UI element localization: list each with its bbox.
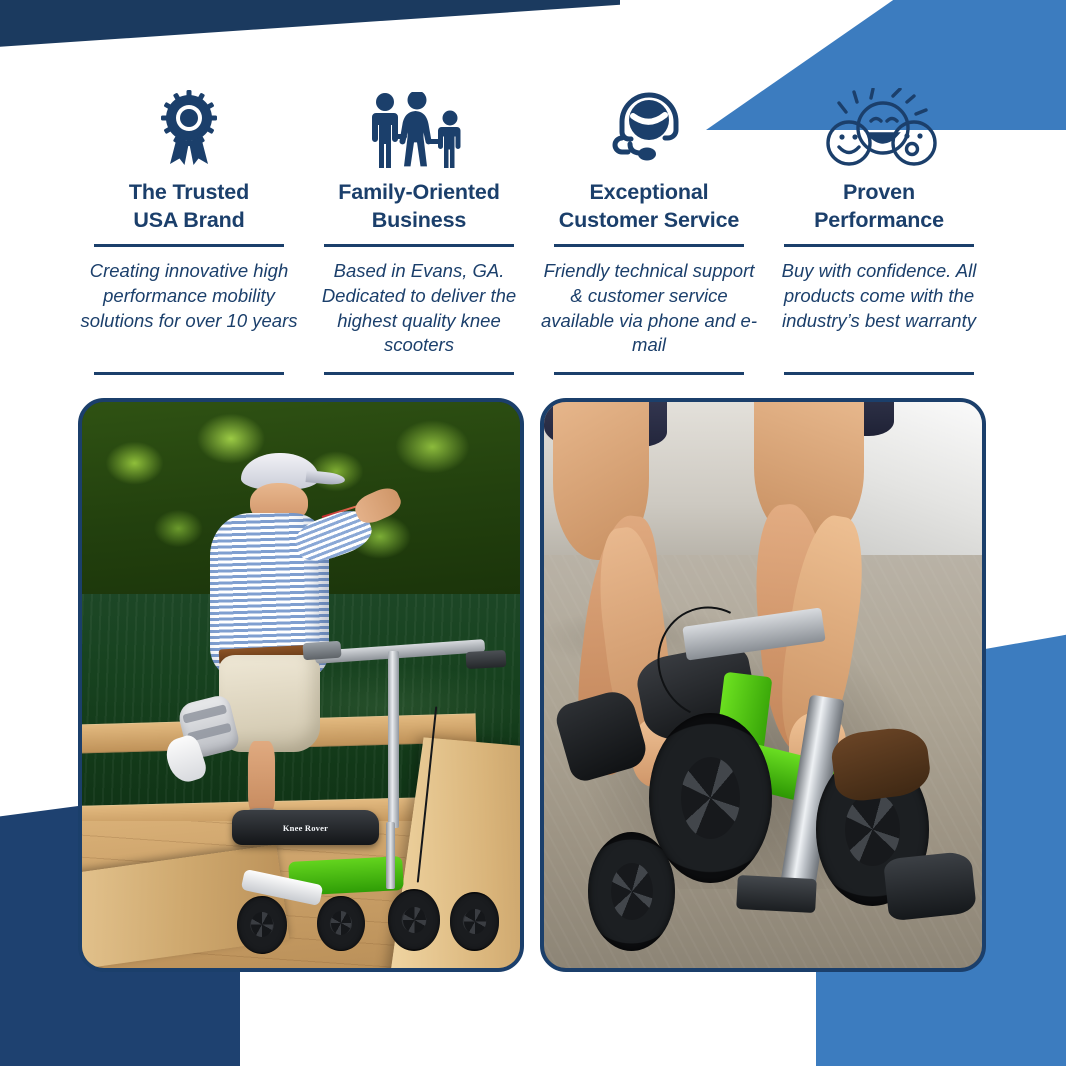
handlebar-grip-folded — [736, 875, 816, 913]
feature-title: Family-OrientedBusiness — [338, 178, 499, 235]
wheel-rear-left — [388, 889, 440, 950]
front-fork — [386, 822, 395, 889]
feature-title: The TrustedUSA Brand — [129, 178, 249, 235]
handlebar-grip-right — [466, 650, 507, 669]
feature-description: Based in Evans, GA. Dedicated to deliver… — [308, 259, 530, 359]
photo-scene-driveway-folding — [544, 402, 982, 968]
feature-divider-top — [784, 244, 974, 247]
standing-leg — [248, 741, 274, 816]
feature-divider-bottom — [784, 372, 974, 375]
brake-cable — [417, 706, 438, 882]
feature-column-trusted-usa-brand: The TrustedUSA Brand Creating innovative… — [78, 86, 300, 375]
feature-title: ProvenPerformance — [814, 178, 944, 235]
headset-support-icon — [606, 86, 692, 168]
wheel-front-left — [237, 896, 287, 954]
photo-gallery: Knee Rover — [78, 398, 986, 972]
wheel-front-right — [317, 896, 364, 951]
knee-pad-seat: Knee Rover — [232, 810, 379, 845]
steering-post — [388, 651, 399, 828]
feature-divider-bottom — [94, 372, 284, 375]
corner-accent-top-left — [0, 0, 620, 60]
feature-divider-top — [324, 244, 514, 247]
family-group-icon — [363, 86, 475, 168]
feature-column-exceptional-customer-service: ExceptionalCustomer Service Friendly tec… — [538, 86, 760, 375]
feature-description: Creating innovative high performance mob… — [78, 259, 300, 359]
rear-brake-assembly — [883, 850, 977, 921]
award-ribbon-icon — [150, 86, 228, 168]
feature-title: ExceptionalCustomer Service — [559, 178, 739, 235]
wheel-small-left — [588, 832, 676, 951]
feature-divider-top — [94, 244, 284, 247]
product-brand-label: Knee Rover — [283, 823, 328, 833]
photo-person-folding-knee-scooter — [540, 398, 986, 972]
smiley-faces-icon — [821, 86, 937, 168]
feature-description: Friendly technical support & customer se… — [538, 259, 760, 359]
photo-scene-fishing-dock: Knee Rover — [82, 402, 520, 968]
feature-description: Buy with confidence. All products come w… — [768, 259, 990, 359]
photo-man-fishing-on-knee-scooter: Knee Rover — [78, 398, 524, 972]
feature-divider-bottom — [554, 372, 744, 375]
infographic-canvas: The TrustedUSA Brand Creating innovative… — [0, 0, 1066, 1066]
feature-column-proven-performance: ProvenPerformance Buy with confidence. A… — [768, 86, 990, 375]
feature-divider-bottom — [324, 372, 514, 375]
handlebar-grip-left — [303, 641, 342, 660]
knee-scooter-green: Knee Rover — [275, 651, 512, 957]
feature-column-family-oriented-business: Family-OrientedBusiness Based in Evans, … — [308, 86, 530, 375]
feature-columns: The TrustedUSA Brand Creating innovative… — [78, 86, 990, 382]
wheel-rear-right — [450, 892, 500, 950]
feature-divider-top — [554, 244, 744, 247]
